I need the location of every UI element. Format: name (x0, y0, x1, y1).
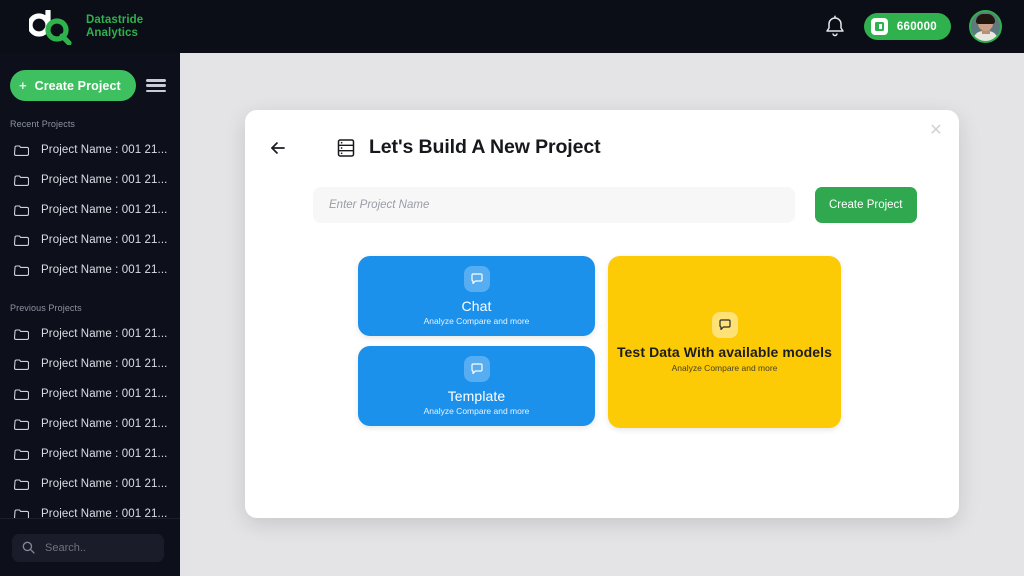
folder-icon (14, 174, 29, 186)
new-project-modal: ✕ Let's Build A New Project Create Proje… (245, 110, 959, 518)
recent-projects-heading: Recent Projects (0, 101, 180, 135)
project-type-card-test-data[interactable]: Test Data With available models Analyze … (608, 256, 841, 428)
card-title: Template (448, 388, 506, 404)
sidebar: + Create Project Recent Projects Project… (0, 53, 180, 576)
card-subtitle: Analyze Compare and more (424, 406, 530, 416)
folder-icon (14, 358, 29, 370)
card-subtitle: Analyze Compare and more (424, 316, 530, 326)
credit-card-icon (871, 18, 888, 35)
sidebar-item-label: Project Name : 001 21... (41, 234, 167, 246)
project-name-input[interactable] (313, 187, 795, 223)
sidebar-header: + Create Project (0, 53, 180, 101)
folder-icon (14, 264, 29, 276)
sidebar-item-label: Project Name : 001 21... (41, 358, 167, 370)
sidebar-item-recent-5[interactable]: Project Name : 001 21... (0, 255, 180, 285)
project-type-left-column: Chat Analyze Compare and more Template A… (358, 256, 595, 426)
server-stack-icon (335, 137, 357, 159)
sidebar-item-previous-2[interactable]: Project Name : 001 21... (0, 349, 180, 379)
app-root: Datastride Analytics 660000 (0, 0, 1024, 576)
sidebar-item-previous-4[interactable]: Project Name : 001 21... (0, 409, 180, 439)
sidebar-item-label: Project Name : 001 21... (41, 448, 167, 460)
search-icon (22, 541, 35, 554)
chat-bubble-glyph (470, 362, 484, 376)
chat-bubble-icon (712, 312, 738, 338)
chat-bubble-icon (464, 356, 490, 382)
hamburger-line (146, 79, 166, 82)
modal-header: Let's Build A New Project (245, 110, 959, 159)
credits-badge[interactable]: 660000 (864, 13, 951, 40)
brand-name: Datastride Analytics (86, 14, 143, 40)
card-subtitle: Analyze Compare and more (672, 363, 778, 373)
folder-icon (14, 388, 29, 400)
modal-create-project-button[interactable]: Create Project (815, 187, 917, 223)
card-title: Test Data With available models (617, 344, 832, 360)
folder-icon (14, 478, 29, 490)
sidebar-item-label: Project Name : 001 21... (41, 418, 167, 430)
sidebar-item-previous-6[interactable]: Project Name : 001 21... (0, 469, 180, 499)
create-project-button-label: Create Project (35, 79, 121, 93)
sidebar-item-previous-3[interactable]: Project Name : 001 21... (0, 379, 180, 409)
brand-name-line1: Datastride (86, 14, 143, 27)
folder-icon (14, 234, 29, 246)
brand-name-line2: Analytics (86, 27, 143, 40)
sidebar-item-label: Project Name : 001 21... (41, 204, 167, 216)
sidebar-search-area (0, 518, 180, 576)
project-type-card-template[interactable]: Template Analyze Compare and more (358, 346, 595, 426)
top-bar-actions: 660000 (824, 10, 1002, 43)
folder-icon (14, 144, 29, 156)
credits-value: 660000 (897, 21, 937, 33)
sidebar-item-label: Project Name : 001 21... (41, 264, 167, 276)
folder-icon (14, 204, 29, 216)
sidebar-item-label: Project Name : 001 21... (41, 388, 167, 400)
sidebar-item-previous-5[interactable]: Project Name : 001 21... (0, 439, 180, 469)
back-arrow-icon[interactable] (267, 137, 289, 159)
datastride-logo-icon (28, 9, 76, 45)
search-box[interactable] (12, 534, 164, 562)
page-title: Let's Build A New Project (369, 136, 600, 159)
hamburger-line (146, 90, 166, 93)
sidebar-item-recent-3[interactable]: Project Name : 001 21... (0, 195, 180, 225)
logo-q-shape (45, 18, 72, 45)
sidebar-item-previous-1[interactable]: Project Name : 001 21... (0, 319, 180, 349)
folder-icon (14, 448, 29, 460)
plus-icon: + (19, 79, 27, 92)
sidebar-item-label: Project Name : 001 21... (41, 174, 167, 186)
project-type-card-chat[interactable]: Chat Analyze Compare and more (358, 256, 595, 336)
chat-bubble-glyph (718, 318, 732, 332)
bell-icon[interactable] (824, 15, 846, 39)
top-bar: Datastride Analytics 660000 (0, 0, 1024, 53)
folder-icon (14, 418, 29, 430)
avatar-hair (976, 14, 995, 24)
chat-bubble-glyph (470, 272, 484, 286)
card-title: Chat (462, 298, 492, 314)
previous-projects-heading: Previous Projects (0, 285, 180, 319)
sidebar-item-recent-4[interactable]: Project Name : 001 21... (0, 225, 180, 255)
close-icon[interactable]: ✕ (927, 122, 945, 140)
sidebar-item-recent-2[interactable]: Project Name : 001 21... (0, 165, 180, 195)
chat-bubble-icon (464, 266, 490, 292)
avatar[interactable] (969, 10, 1002, 43)
sidebar-item-label: Project Name : 001 21... (41, 478, 167, 490)
project-name-form: Create Project (313, 187, 959, 223)
hamburger-line (146, 84, 166, 87)
search-input[interactable] (45, 542, 155, 554)
sidebar-item-label: Project Name : 001 21... (41, 144, 167, 156)
sidebar-item-recent-1[interactable]: Project Name : 001 21... (0, 135, 180, 165)
project-type-cards: Chat Analyze Compare and more Template A… (358, 256, 959, 428)
sidebar-item-label: Project Name : 001 21... (41, 328, 167, 340)
hamburger-menu-icon[interactable] (146, 79, 166, 92)
folder-icon (14, 328, 29, 340)
brand-logo[interactable]: Datastride Analytics (28, 9, 143, 45)
create-project-button[interactable]: + Create Project (10, 70, 136, 101)
